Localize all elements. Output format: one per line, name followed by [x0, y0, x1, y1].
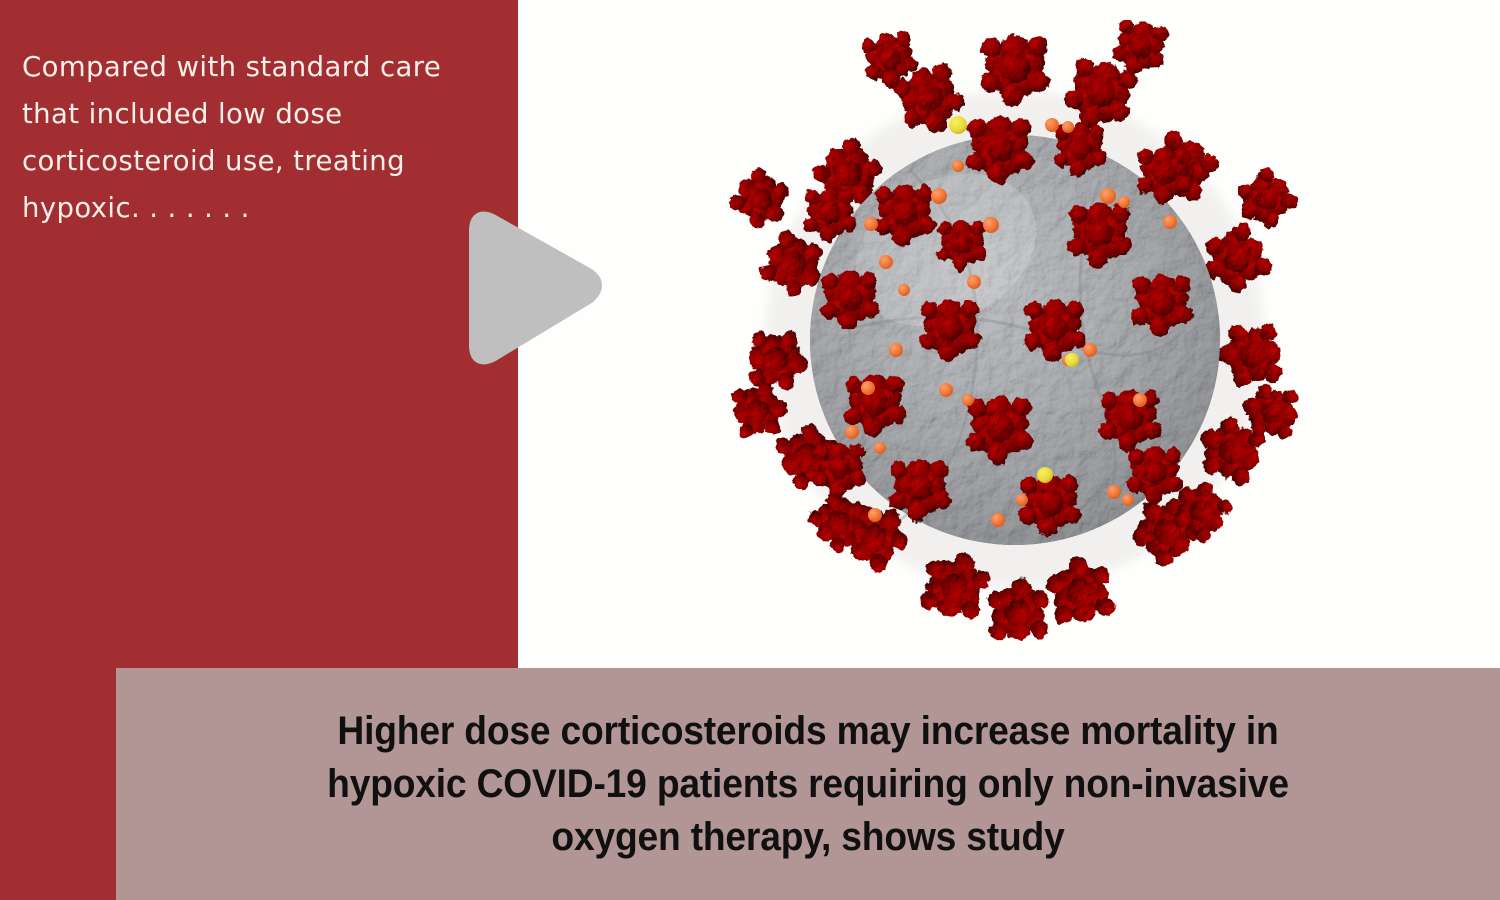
coronavirus-illustration [700, 0, 1340, 680]
teaser-panel-lower-strip [0, 660, 118, 900]
play-button[interactable] [462, 209, 602, 369]
caption-bar: Higher dose corticosteroids may increase… [116, 668, 1500, 900]
teaser-text: Compared with standard care that include… [22, 44, 492, 232]
play-triangle-icon [476, 219, 595, 358]
headline-text: Higher dose corticosteroids may increase… [217, 705, 1398, 864]
article-card: Compared with standard care that include… [0, 0, 1500, 900]
